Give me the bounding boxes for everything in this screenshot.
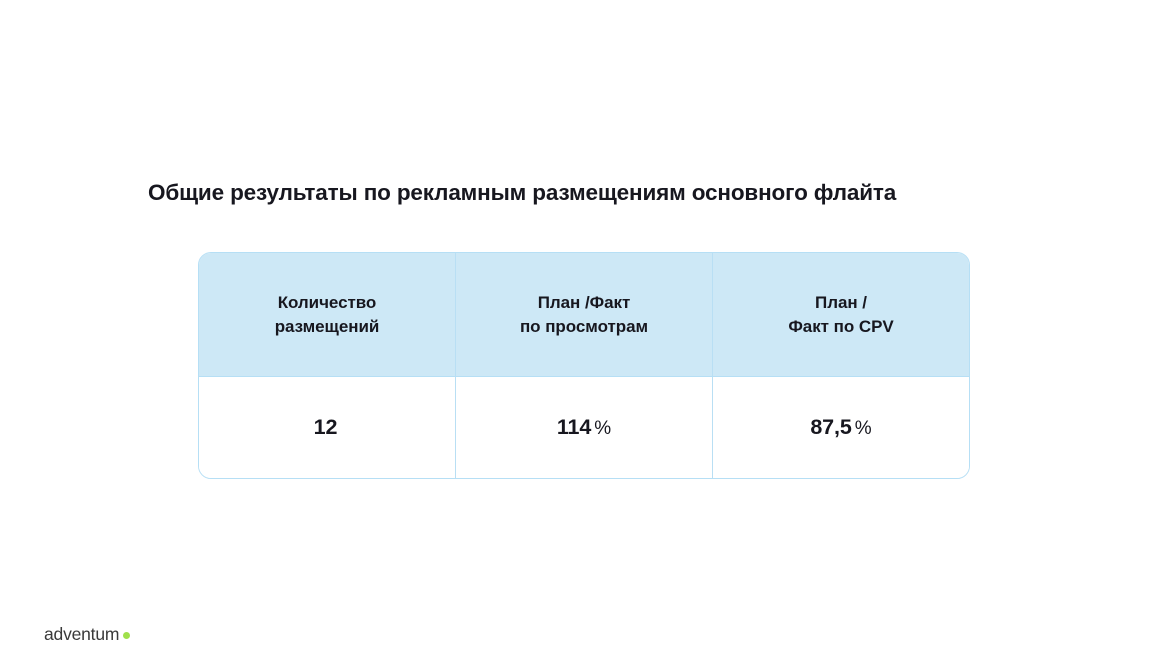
- table-cell-cpv-value: 87,5%: [712, 377, 969, 478]
- page-title: Общие результаты по рекламным размещения…: [148, 178, 1048, 208]
- metric-number: 87,5: [810, 415, 851, 439]
- metric-number: 114: [557, 415, 591, 439]
- slide-canvas: Общие результаты по рекламным размещения…: [0, 0, 1176, 659]
- table-header-line-1: План /Факт: [520, 291, 648, 315]
- table-header-text: Количество размещений: [275, 291, 380, 339]
- table-header-line-2: размещений: [275, 315, 380, 339]
- table-header-line-2: по просмотрам: [520, 315, 648, 339]
- metric-value: 12: [314, 414, 341, 442]
- metric-unit: %: [855, 418, 872, 439]
- metric-number: 12: [314, 415, 338, 439]
- table-header-text: План / Факт по CPV: [788, 291, 893, 339]
- metric-unit: %: [594, 418, 611, 439]
- table-header-cell-views: План /Факт по просмотрам: [455, 253, 712, 376]
- metric-value: 114%: [557, 414, 611, 442]
- brand-logo-text: adventum: [44, 624, 119, 644]
- table-header-text: План /Факт по просмотрам: [520, 291, 648, 339]
- table-header-cell-placements: Количество размещений: [199, 253, 455, 376]
- brand-logo: adventum: [44, 624, 130, 644]
- table-header-line-1: Количество: [275, 291, 380, 315]
- table-header-row: Количество размещений План /Факт по прос…: [199, 253, 969, 377]
- table-cell-placements-value: 12: [199, 377, 455, 478]
- table-row: 12 114% 87,5%: [199, 377, 969, 478]
- brand-dot-icon: [123, 632, 130, 639]
- table-header-line-1: План /: [788, 291, 893, 315]
- table-header-cell-cpv: План / Факт по CPV: [712, 253, 969, 376]
- table-header-line-2: Факт по CPV: [788, 315, 893, 339]
- table-cell-views-value: 114%: [455, 377, 712, 478]
- results-table: Количество размещений План /Факт по прос…: [198, 252, 970, 479]
- metric-value: 87,5%: [810, 414, 871, 442]
